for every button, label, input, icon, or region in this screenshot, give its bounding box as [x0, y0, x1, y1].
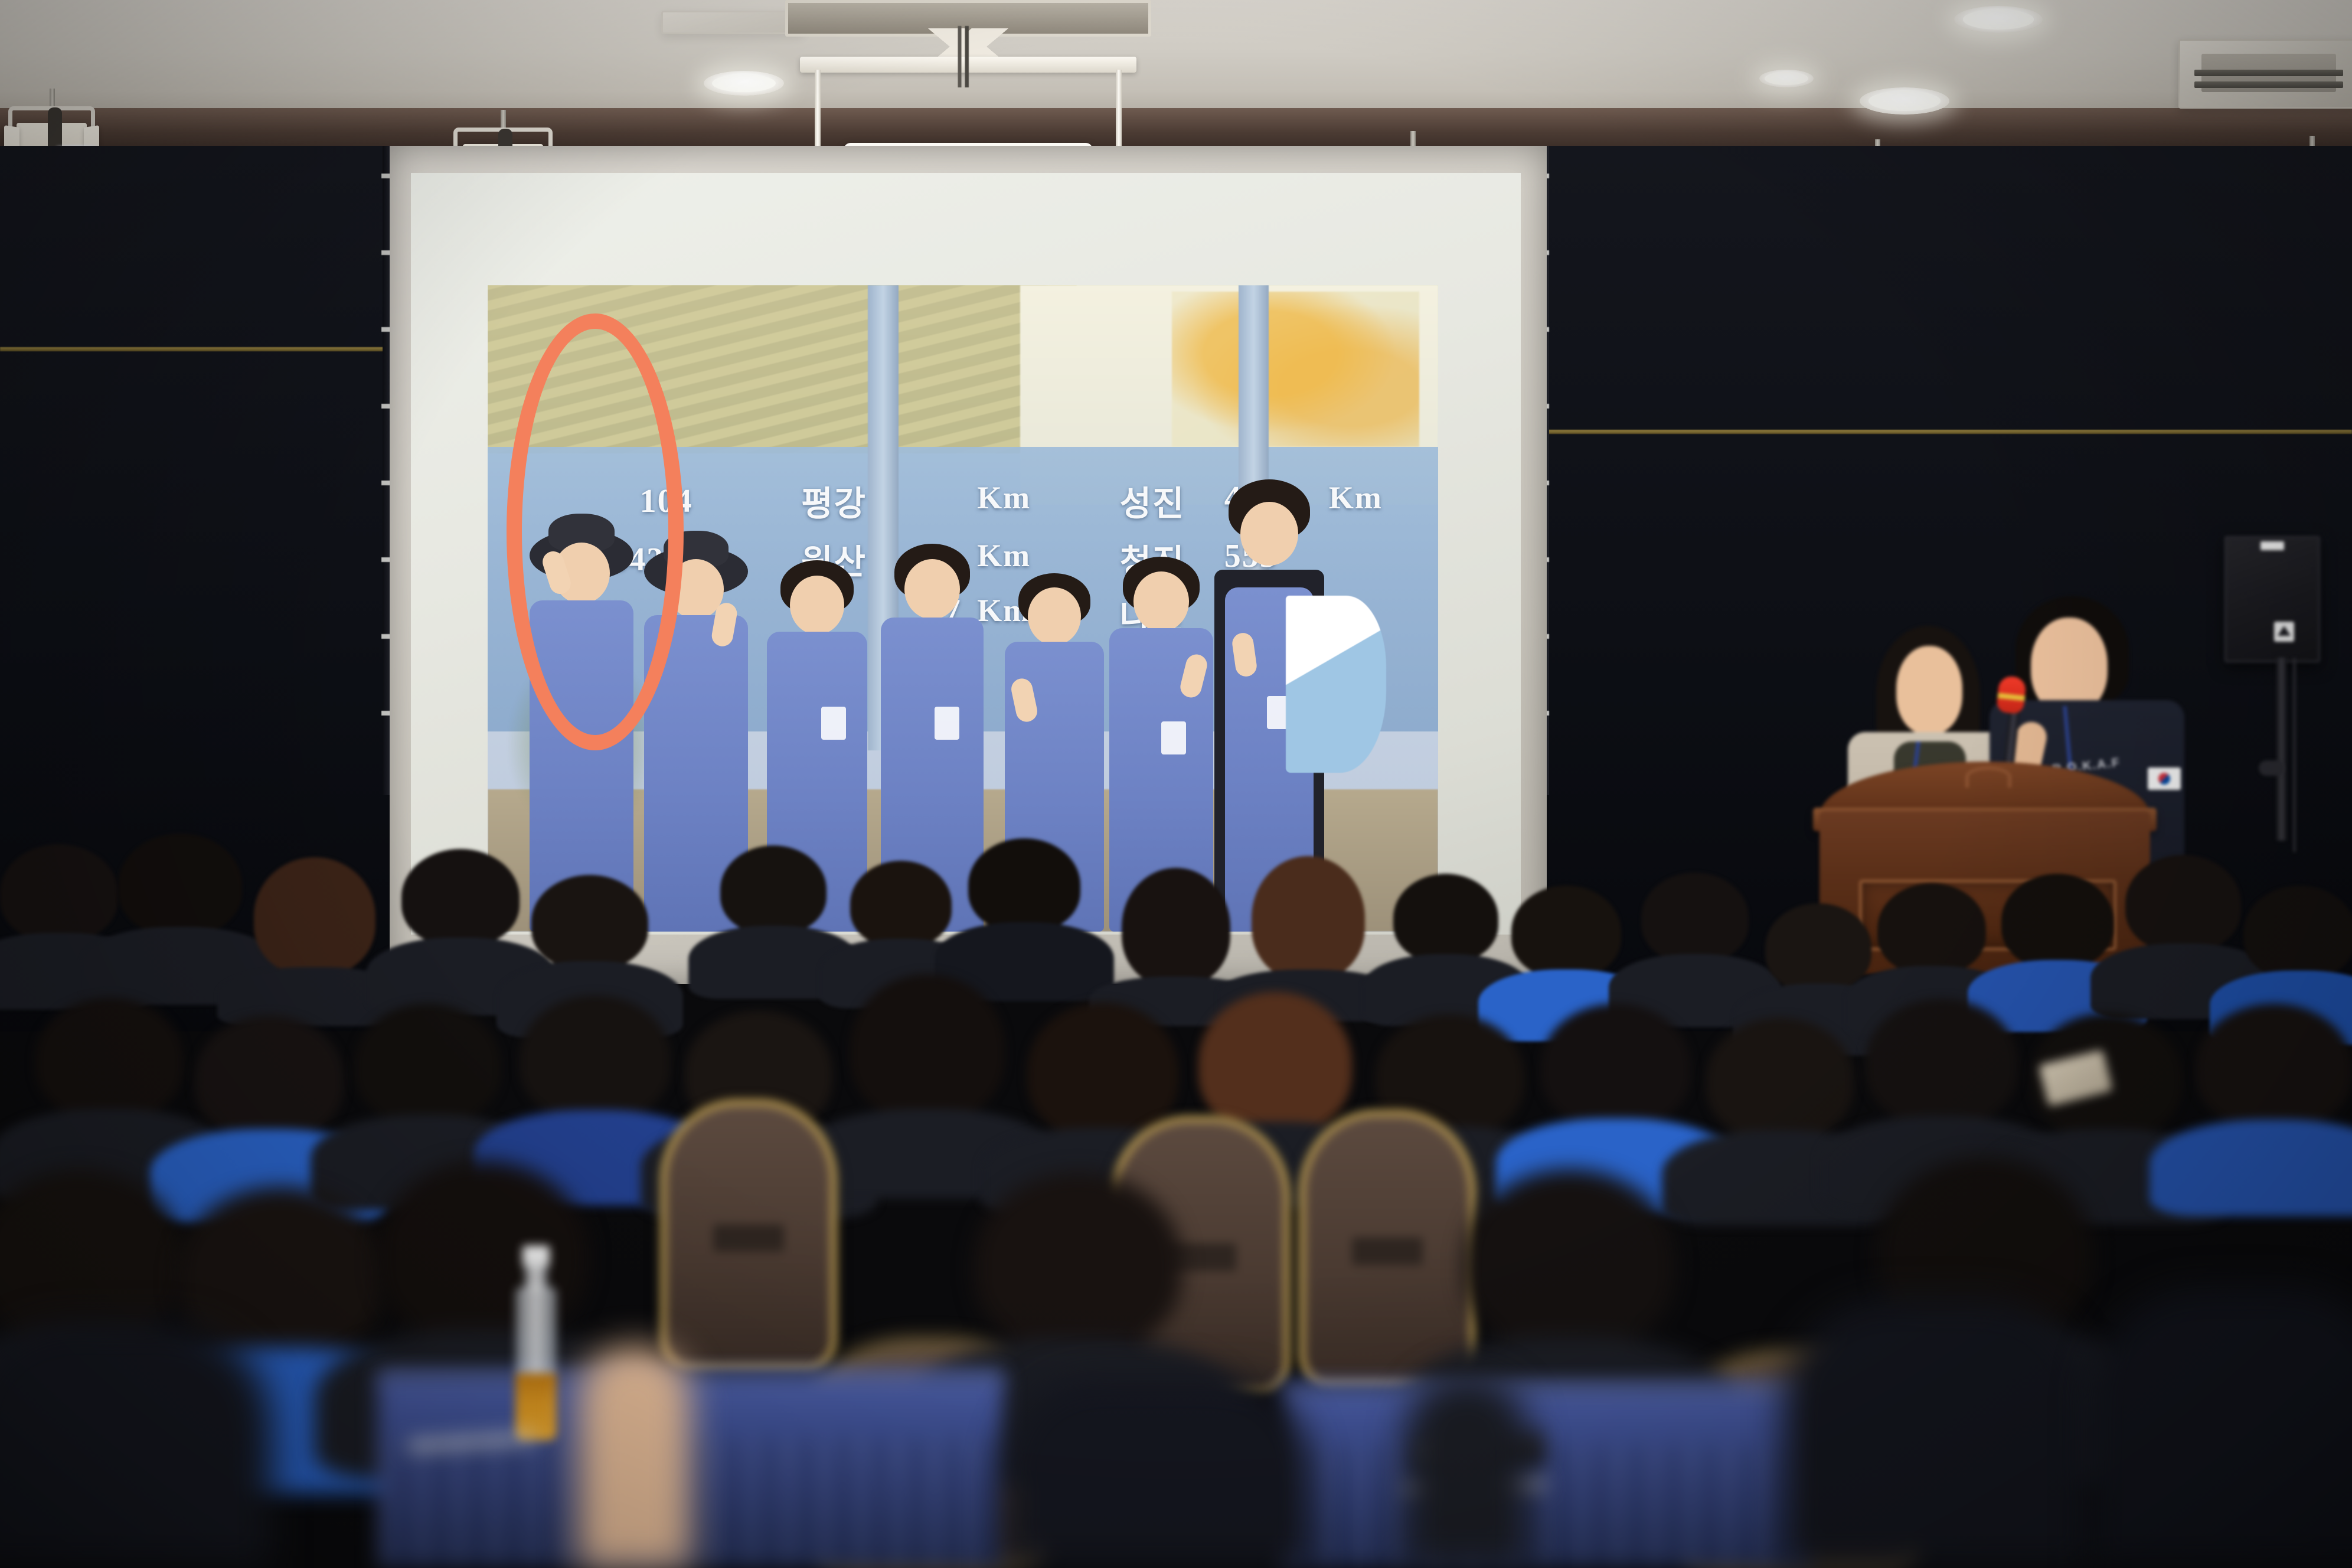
audience-member	[118, 834, 242, 1005]
recessed-ceiling-light	[1860, 87, 1949, 115]
speaker-stand-pole	[2276, 658, 2286, 841]
photo-map-poster	[1172, 292, 1419, 447]
backdrop-gold-rail	[0, 347, 390, 351]
volunteer-id-badge	[821, 707, 846, 740]
signpost-place-mid-1: 평강	[801, 476, 867, 525]
table-edge	[1281, 1384, 1812, 1393]
audience-head	[0, 844, 118, 941]
audience-head	[1866, 999, 2018, 1125]
foreground-person	[1004, 1376, 1311, 1568]
audience-head	[1511, 886, 1621, 978]
banquet-chair[interactable]	[660, 1099, 837, 1371]
audience-head	[118, 834, 242, 935]
volunteer-face	[790, 576, 844, 635]
volunteer-face	[1240, 502, 1298, 566]
recessed-ceiling-light	[1954, 6, 2043, 33]
speaker-stand-knob	[2259, 760, 2285, 776]
chair-handle-notch	[713, 1224, 784, 1252]
audience-head	[401, 849, 520, 946]
signpost-unit-mid-1: Km	[977, 479, 1031, 516]
audience-head	[1393, 874, 1498, 962]
speaker-brand-badge	[2260, 541, 2284, 550]
audience-head	[531, 875, 648, 969]
audience-head	[1877, 883, 1986, 974]
water-bottle[interactable]	[509, 1246, 563, 1440]
ceiling-cassette-air-conditioner	[661, 11, 803, 34]
recessed-ceiling-light	[1759, 70, 1814, 87]
volunteer-face	[1028, 587, 1081, 645]
audience-head	[254, 857, 375, 975]
audience-head	[520, 995, 671, 1121]
lectern-scroll-detail	[1965, 766, 2011, 788]
audience-head	[1765, 903, 1871, 992]
pa-loudspeaker-on-stand	[2224, 536, 2320, 662]
projected-slide: 104 평강 Km 성진 478 Km 543 원산 Km 청진 553 7 K…	[411, 173, 1521, 935]
foreground-arm	[579, 1346, 691, 1568]
foreground-person	[2090, 1287, 2352, 1568]
audience-head	[2243, 886, 2352, 979]
audience-head	[720, 845, 827, 934]
audience-head	[195, 1015, 344, 1139]
recessed-ceiling-light	[704, 71, 784, 96]
draped-table	[378, 1376, 1004, 1568]
volunteer-face	[904, 559, 960, 619]
foreground-arm	[1405, 1376, 1529, 1568]
bottle-neck	[525, 1266, 547, 1289]
ac-vane	[2194, 81, 2343, 88]
signpost-unit-right-1: Km	[1329, 479, 1383, 516]
chair-handle-notch	[1352, 1237, 1423, 1265]
audience-head	[2196, 1004, 2352, 1129]
bottle-contents	[515, 1373, 557, 1440]
bottle-cap	[522, 1246, 550, 1267]
volunteer-id-badge	[1161, 721, 1186, 754]
speaker-logo-icon	[2274, 622, 2294, 642]
korean-flag-patch	[2148, 767, 2181, 790]
audience-head	[850, 861, 952, 947]
foreground-person	[0, 1322, 272, 1568]
audience-head	[1252, 856, 1365, 980]
audience-head	[1641, 873, 1749, 962]
speaker-cable	[2293, 658, 2296, 852]
ac-vane	[2194, 70, 2343, 76]
audience-head	[1122, 868, 1230, 986]
ceiling-dark-band	[0, 108, 2352, 149]
banquet-chair[interactable]	[1299, 1110, 1476, 1387]
audience-head	[0, 1169, 183, 1346]
audience-member	[2196, 1004, 2352, 1216]
ceiling-cassette-air-conditioner	[2178, 39, 2352, 109]
volunteer-face	[1133, 571, 1189, 632]
foreground-person	[1783, 1299, 2090, 1568]
backdrop-gold-rail	[1547, 430, 2352, 434]
signpost-place-right-1: 성진	[1120, 476, 1185, 525]
audience-head	[2125, 855, 2241, 952]
taeguk-symbol	[2158, 773, 2170, 785]
audience-head	[968, 838, 1080, 932]
audience-member	[254, 857, 375, 1026]
conference-hall-photo: 104 평강 Km 성진 478 Km 543 원산 Km 청진 553 7 K…	[0, 0, 2352, 1568]
audience-head	[2001, 874, 2113, 968]
highlight-circle	[507, 313, 684, 750]
audience-shoulders	[2150, 1119, 2352, 1216]
photo-flag-cloth	[1286, 596, 1386, 773]
projector-cables	[953, 26, 974, 87]
audience-head	[1464, 1169, 1675, 1351]
presenter-face	[1896, 646, 1962, 734]
table-edge	[378, 1372, 1004, 1381]
audience-head	[1706, 1018, 1854, 1139]
audience-member	[720, 845, 827, 999]
audience-head	[35, 998, 183, 1119]
audience-head	[1541, 1004, 1691, 1128]
audience-head	[850, 974, 1005, 1121]
draped-table	[1281, 1387, 1812, 1568]
audience-head	[354, 1004, 501, 1124]
volunteer-id-badge	[935, 707, 959, 740]
audience-head	[974, 1172, 1182, 1352]
